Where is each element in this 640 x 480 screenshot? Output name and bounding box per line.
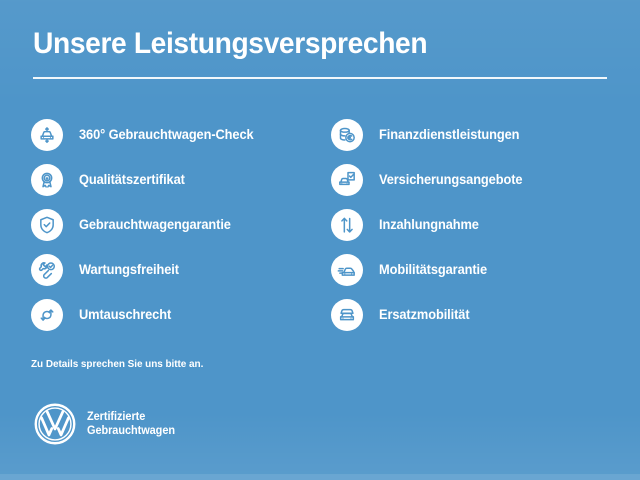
replacement-car-icon: [331, 299, 363, 331]
promise-item: Gebrauchtwagengarantie: [31, 202, 331, 247]
promise-item: Mobilitätsgarantie: [331, 247, 631, 292]
promise-item: Wartungsfreiheit: [31, 247, 331, 292]
promise-label: Umtauschrecht: [79, 307, 171, 323]
promise-label: Finanzdienstleistungen: [379, 127, 519, 143]
promise-label: Mobilitätsgarantie: [379, 262, 487, 278]
car-inspection-icon: [31, 119, 63, 151]
brand-line-2: Gebrauchtwagen: [87, 424, 175, 438]
footer-note: Zu Details sprechen Sie uns bitte an.: [31, 357, 203, 371]
promise-item: Qualitätszertifikat: [31, 157, 331, 202]
exchange-arrows-icon: [31, 299, 63, 331]
promise-label: Qualitätszertifikat: [79, 172, 185, 188]
promise-item: Ersatzmobilität: [331, 292, 631, 337]
quality-medal-icon: [31, 164, 63, 196]
title-divider: [33, 77, 607, 79]
volkswagen-logo-icon: [33, 402, 77, 446]
promise-column-left: 360° Gebrauchtwagen-Check Qualitätszerti…: [31, 112, 331, 337]
promise-label: 360° Gebrauchtwagen-Check: [79, 127, 254, 143]
promise-item: Inzahlungnahme: [331, 202, 631, 247]
car-insurance-document-icon: [331, 164, 363, 196]
promise-label: Inzahlungnahme: [379, 217, 479, 233]
promise-label: Wartungsfreiheit: [79, 262, 179, 278]
maintenance-tools-icon: [31, 254, 63, 286]
promise-column-right: Finanzdienstleistungen Versicheru: [331, 112, 631, 337]
promise-label: Gebrauchtwagengarantie: [79, 217, 231, 233]
promise-label: Versicherungsangebote: [379, 172, 522, 188]
brand-line-1: Zertifizierte: [87, 410, 175, 424]
promise-label: Ersatzmobilität: [379, 307, 470, 323]
car-mobility-icon: [331, 254, 363, 286]
up-down-arrows-icon: [331, 209, 363, 241]
brand-lockup: Zertifizierte Gebrauchtwagen: [33, 402, 180, 446]
promise-item: 360° Gebrauchtwagen-Check: [31, 112, 331, 157]
shield-check-icon: [31, 209, 63, 241]
page-title: Unsere Leistungsversprechen: [33, 27, 427, 61]
promise-item: Umtauschrecht: [31, 292, 331, 337]
coins-euro-icon: [331, 119, 363, 151]
promise-item: Versicherungsangebote: [331, 157, 631, 202]
promise-poster: Unsere Leistungsversprechen: [0, 0, 640, 480]
promise-item: Finanzdienstleistungen: [331, 112, 631, 157]
brand-lockup-text: Zertifizierte Gebrauchtwagen: [87, 410, 175, 438]
